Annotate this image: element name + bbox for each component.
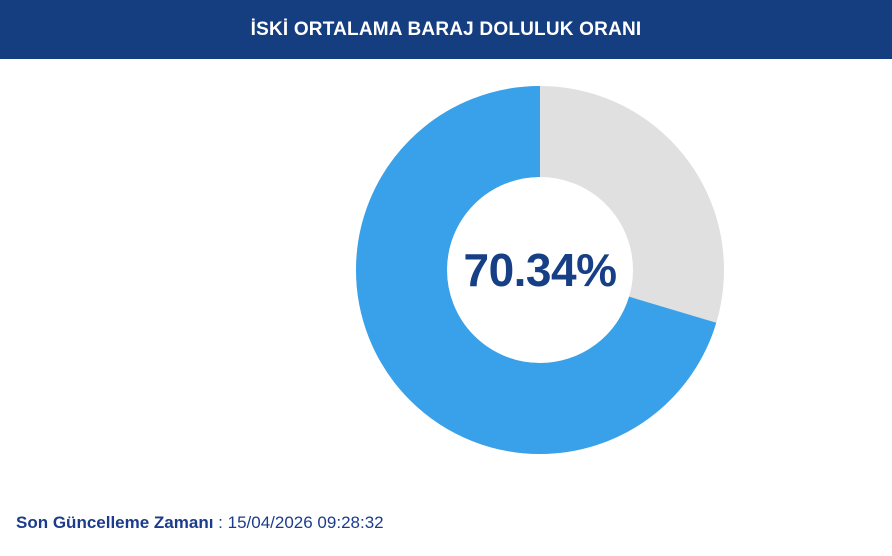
page-title: İSKİ ORTALAMA BARAJ DOLULUK ORANI xyxy=(251,19,642,41)
donut-chart: 70.34% xyxy=(356,86,724,454)
donut-chart-svg xyxy=(356,86,724,454)
last-update-value: 15/04/2026 09:28:32 xyxy=(228,513,384,532)
last-update-label: Son Güncelleme Zamanı xyxy=(16,513,213,532)
last-update-separator: : xyxy=(213,513,227,532)
header-bar: İSKİ ORTALAMA BARAJ DOLULUK ORANI xyxy=(0,0,892,59)
chart-area: 70.34% xyxy=(0,59,892,496)
last-update-row: Son Güncelleme Zamanı : 15/04/2026 09:28… xyxy=(16,513,384,533)
